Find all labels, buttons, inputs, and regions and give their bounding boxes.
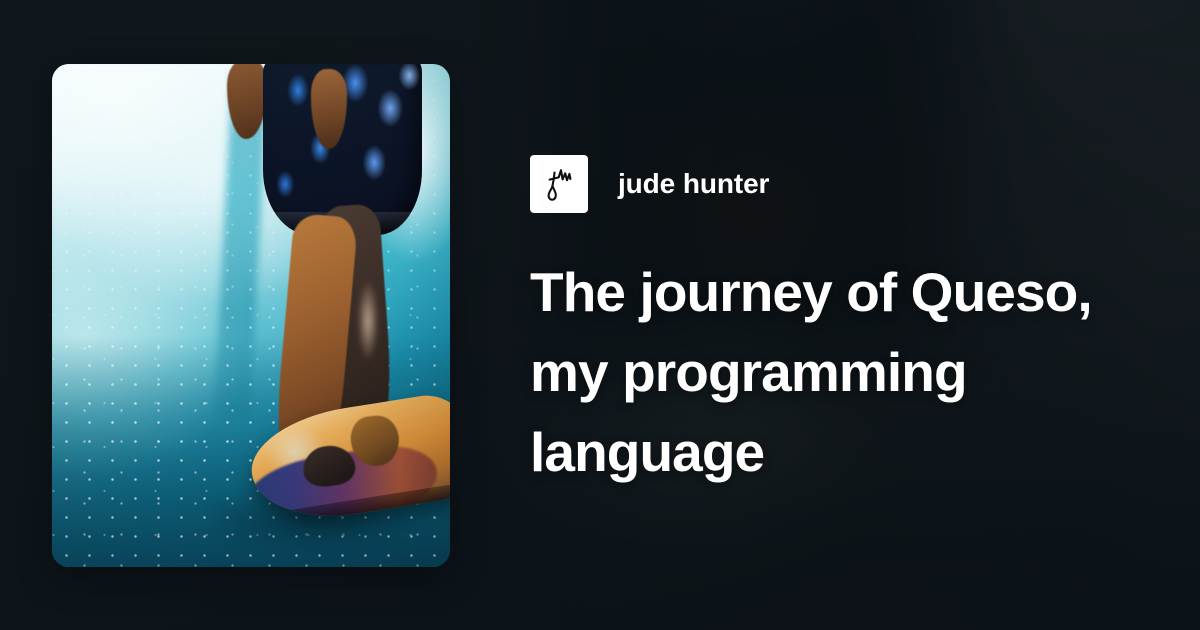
cover-image-card [52,64,450,567]
content-column: jude hunter The journey of Queso, my pro… [530,0,1170,630]
signature-logo-icon [541,165,577,203]
avatar[interactable] [530,155,588,213]
author-name: jude hunter [618,168,769,200]
cover-photo [52,64,450,567]
post-title: The journey of Queso, my programming lan… [530,252,1110,492]
cover-vignette [52,64,450,567]
share-card: jude hunter The journey of Queso, my pro… [0,0,1200,630]
author-row[interactable]: jude hunter [530,155,769,213]
